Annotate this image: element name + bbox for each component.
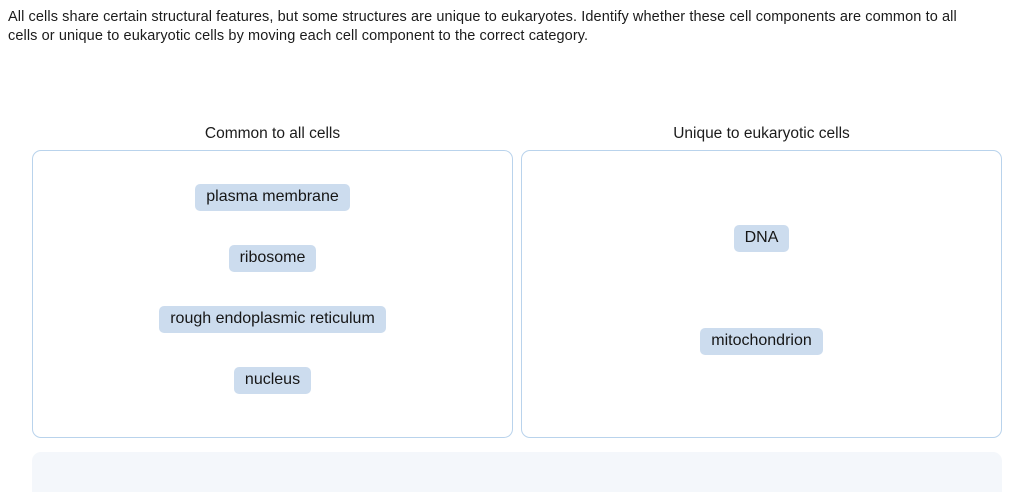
list-item: DNA	[734, 225, 790, 252]
draggable-chip-dna[interactable]: DNA	[734, 225, 790, 252]
list-item: nucleus	[234, 367, 311, 394]
question-prompt: All cells share certain structural featu…	[8, 8, 968, 46]
draggable-chip-plasma-membrane[interactable]: plasma membrane	[195, 184, 350, 211]
list-item: ribosome	[229, 245, 317, 272]
draggable-chip-nucleus[interactable]: nucleus	[234, 367, 311, 394]
component-tray[interactable]	[32, 452, 1002, 492]
draggable-chip-rough-endoplasmic-reticulum[interactable]: rough endoplasmic reticulum	[159, 306, 386, 333]
dropzone-unique-to-eukaryotic-cells[interactable]: DNA mitochondrion	[521, 150, 1002, 438]
dropzone-items-common: plasma membrane ribosome rough endoplasm…	[33, 151, 512, 394]
category-headers: Common to all cells Unique to eukaryotic…	[32, 124, 1002, 144]
draggable-chip-mitochondrion[interactable]: mitochondrion	[700, 328, 823, 355]
dropzone-common-to-all-cells[interactable]: plasma membrane ribosome rough endoplasm…	[32, 150, 513, 438]
drop-zones: plasma membrane ribosome rough endoplasm…	[32, 150, 1002, 438]
list-item: mitochondrion	[700, 328, 823, 355]
dropzone-items-eukaryotic: DNA mitochondrion	[522, 151, 1001, 355]
draggable-chip-ribosome[interactable]: ribosome	[229, 245, 317, 272]
category-header-common: Common to all cells	[32, 124, 513, 144]
category-header-eukaryotic: Unique to eukaryotic cells	[521, 124, 1002, 144]
list-item: plasma membrane	[195, 184, 350, 211]
list-item: rough endoplasmic reticulum	[159, 306, 386, 333]
